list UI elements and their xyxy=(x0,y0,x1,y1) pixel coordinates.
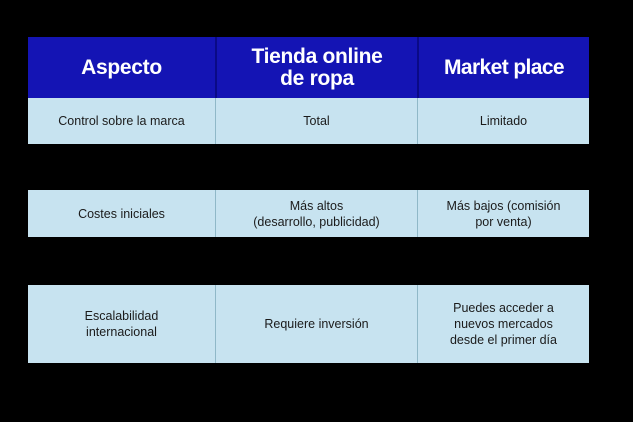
table-cell-text: Limitado xyxy=(480,113,527,129)
table-cell-text: Requiere inversión xyxy=(264,316,368,332)
table-cell-aspect: Escalabilidad internacional xyxy=(28,285,215,363)
table-row: Costes iniciales Más altos (desarrollo, … xyxy=(28,190,589,237)
table-header-label-aspecto: Aspecto xyxy=(81,57,162,78)
table-header-cell-market-place: Market place xyxy=(417,37,589,98)
table-header-label-market-place: Market place xyxy=(444,57,564,78)
table-cell-tienda-online: Total xyxy=(215,98,417,144)
table-cell-text: Total xyxy=(303,113,329,129)
table-cell-aspect: Costes iniciales xyxy=(28,190,215,237)
table-cell-market-place: Puedes acceder a nuevos mercados desde e… xyxy=(417,285,589,363)
table-header-cell-aspecto: Aspecto xyxy=(28,37,215,98)
slide-canvas: Aspecto Tienda online de ropa Market pla… xyxy=(0,0,633,422)
table-header-label-tienda-online: Tienda online de ropa xyxy=(251,46,382,89)
table-cell-text: Puedes acceder a nuevos mercados desde e… xyxy=(450,300,557,348)
table-cell-text: Más bajos (comisión por venta) xyxy=(447,198,561,230)
table-row: Escalabilidad internacional Requiere inv… xyxy=(28,285,589,363)
table-cell-tienda-online: Más altos (desarrollo, publicidad) xyxy=(215,190,417,237)
table-header-row: Aspecto Tienda online de ropa Market pla… xyxy=(28,37,589,98)
table-cell-tienda-online: Requiere inversión xyxy=(215,285,417,363)
table-cell-text: Control sobre la marca xyxy=(58,113,184,129)
table-cell-text: Costes iniciales xyxy=(78,206,165,222)
table-cell-market-place: Limitado xyxy=(417,98,589,144)
table-cell-text: Escalabilidad internacional xyxy=(85,308,159,340)
table-cell-aspect: Control sobre la marca xyxy=(28,98,215,144)
table-row: Control sobre la marca Total Limitado xyxy=(28,98,589,144)
table-cell-text: Más altos (desarrollo, publicidad) xyxy=(253,198,379,230)
table-header-cell-tienda-online: Tienda online de ropa xyxy=(215,37,417,98)
table-cell-market-place: Más bajos (comisión por venta) xyxy=(417,190,589,237)
